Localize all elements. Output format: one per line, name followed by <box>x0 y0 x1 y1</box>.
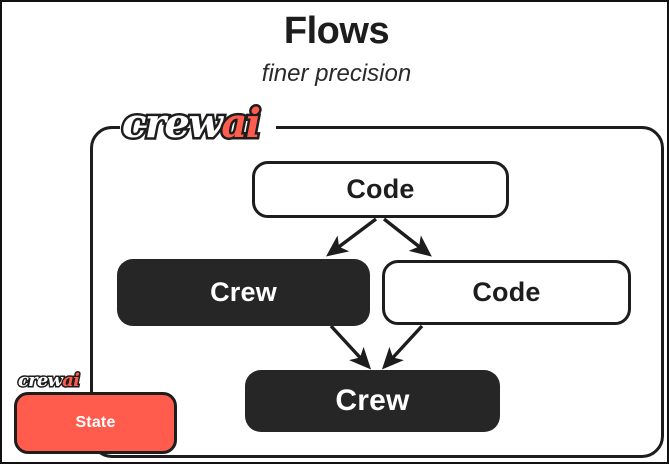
page-subtitle: finer precision <box>2 60 669 88</box>
page-title: Flows <box>2 10 669 53</box>
node-state[interactable]: State <box>14 392 177 454</box>
node-label: Crew <box>210 277 277 308</box>
node-label: Code <box>472 277 540 308</box>
crewai-badge-icon: crewai <box>18 372 79 390</box>
node-label: Code <box>346 174 414 205</box>
node-label: State <box>75 414 115 432</box>
crewai-logo-ai: ai <box>221 100 259 147</box>
diagram-canvas: Flows finer precision crewai <box>0 0 669 464</box>
node-crew-middle[interactable]: Crew <box>117 259 370 326</box>
crewai-badge-ai: ai <box>62 370 79 391</box>
node-crew-bottom[interactable]: Crew <box>245 370 500 432</box>
crewai-logo: crewai <box>122 104 259 144</box>
node-code-middle[interactable]: Code <box>382 260 631 325</box>
crewai-logo-crew: crew <box>122 100 221 147</box>
node-code-top[interactable]: Code <box>252 161 509 218</box>
crewai-badge-crew: crew <box>18 370 62 391</box>
node-label: Crew <box>335 384 409 418</box>
